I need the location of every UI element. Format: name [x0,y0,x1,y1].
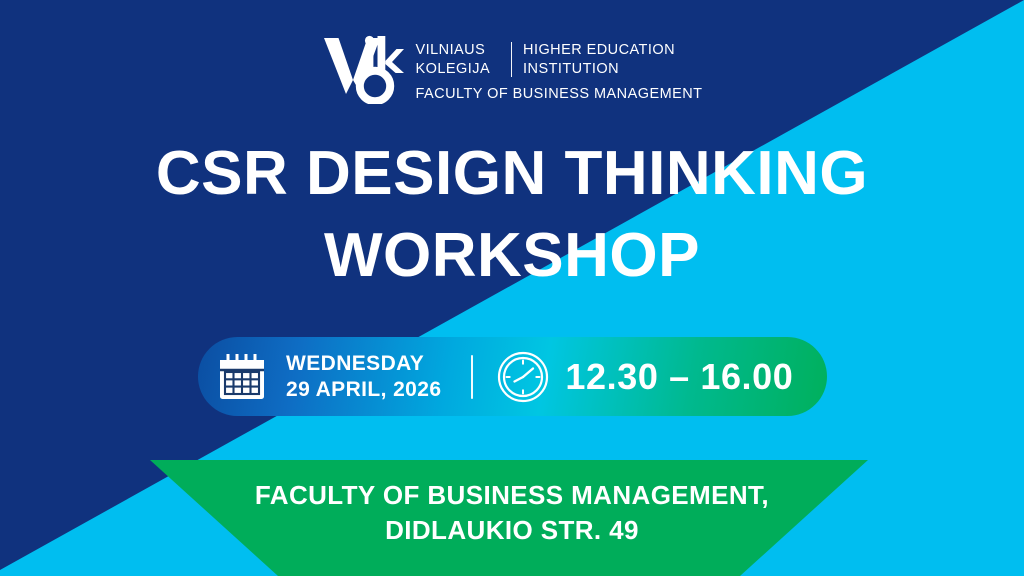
event-date: WEDNESDAY 29 APRIL, 2026 [286,351,441,401]
logo-institution: INSTITUTION [523,60,675,79]
date-time-pill: WEDNESDAY 29 APRIL, 2026 12. [198,337,827,416]
event-poster: VILNIAUS KOLEGIJA HIGHER EDUCATION INSTI… [0,0,1024,576]
logo-kolegija: KOLEGIJA [416,60,502,79]
poster-title-line-1: CSR DESIGN THINKING [60,133,964,215]
event-date-value: 29 APRIL, 2026 [286,377,441,402]
poster-title-line-2: WORKSHOP [60,215,964,297]
event-weekday: WEDNESDAY [286,352,424,375]
venue-line-1: FACULTY OF BUSINESS MANAGEMENT, [0,478,1024,513]
poster-title: CSR DESIGN THINKING WORKSHOP [0,133,1024,297]
viko-logo: VILNIAUS KOLEGIJA HIGHER EDUCATION INSTI… [0,30,1024,104]
date-group: WEDNESDAY 29 APRIL, 2026 [216,351,441,403]
logo-higher-education: HIGHER EDUCATION [523,41,675,60]
logo-vertical-divider [511,42,513,77]
venue-text: FACULTY OF BUSINESS MANAGEMENT, DIDLAUKI… [0,478,1024,549]
logo-faculty-line: FACULTY OF BUSINESS MANAGEMENT [416,85,703,104]
venue-line-2: DIDLAUKIO STR. 49 [0,513,1024,548]
event-time: 12.30 – 16.00 [565,356,793,398]
logo-vilniaus: VILNIAUS [416,41,502,60]
time-group: 12.30 – 16.00 [473,351,793,403]
viko-logomark-icon [322,32,404,104]
clock-icon [497,351,549,403]
calendar-icon [216,351,268,403]
